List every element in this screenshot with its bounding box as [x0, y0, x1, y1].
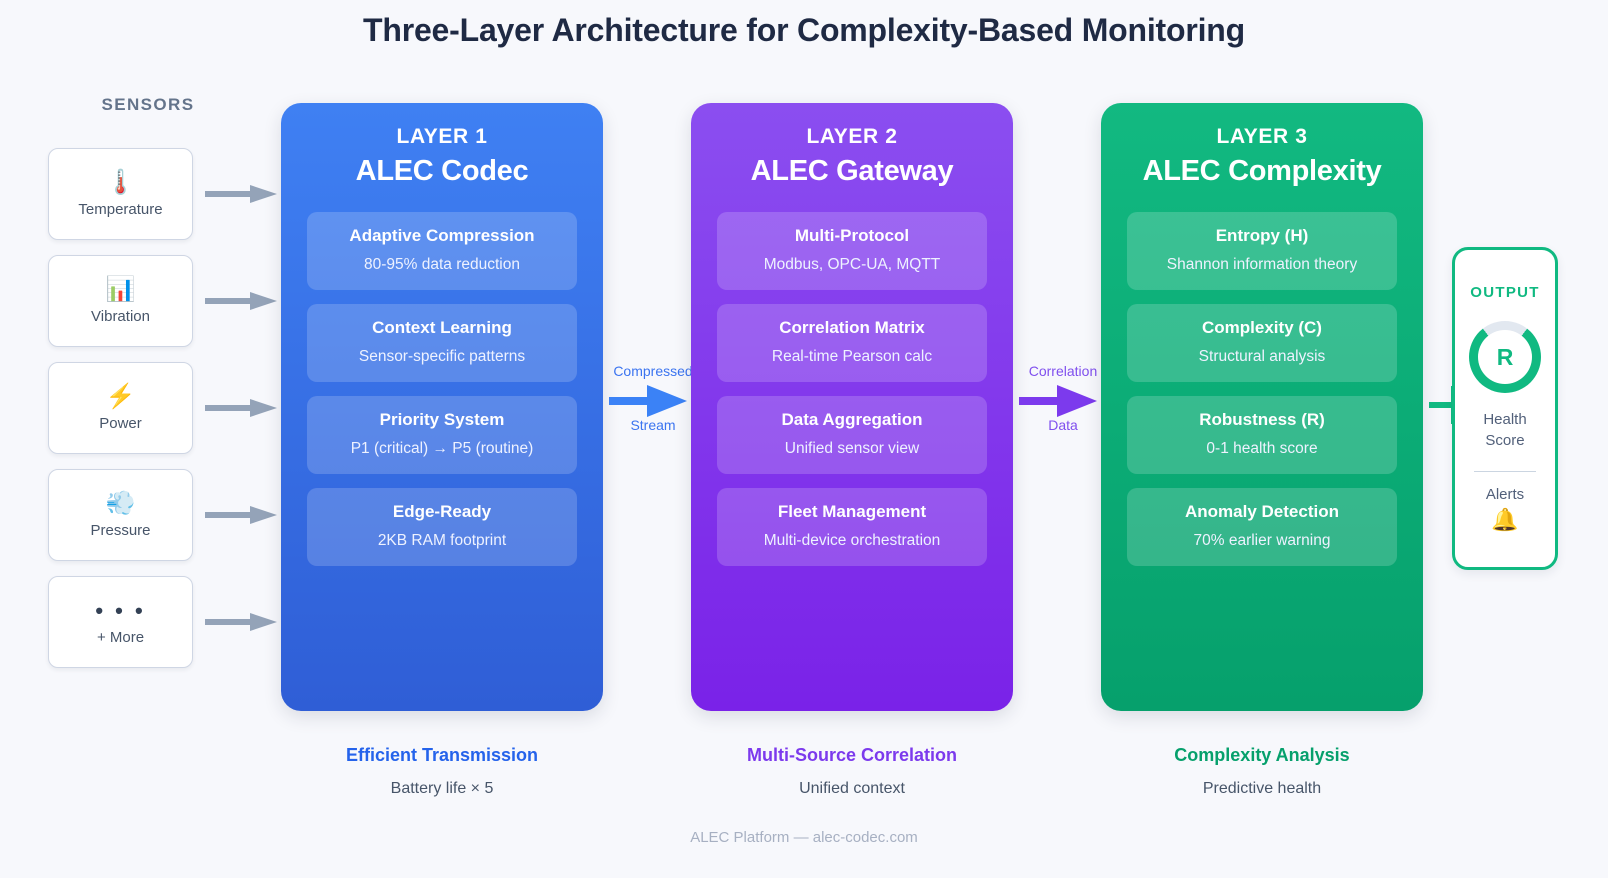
feature-name: Fleet Management [723, 502, 981, 522]
list-item-label: Pressure [90, 522, 150, 539]
feature-desc: 2KB RAM footprint [313, 532, 571, 550]
feature-name: Correlation Matrix [723, 318, 981, 338]
sensor-arrow-more [205, 613, 277, 631]
layer-kicker: LAYER 2 [717, 125, 987, 149]
feature-desc: 80-95% data reduction [313, 256, 571, 274]
arrow-shaft [205, 405, 253, 411]
connector-label-bottom: Stream [603, 417, 703, 433]
feature-card[interactable]: Anomaly Detection 70% earlier warning [1127, 488, 1397, 566]
feature-name: Adaptive Compression [313, 226, 571, 246]
sensors-heading: SENSORS [48, 95, 248, 115]
feature-name: Edge-Ready [313, 502, 571, 522]
arrow-head-icon [1057, 385, 1097, 417]
feature-card[interactable]: Correlation Matrix Real-time Pearson cal… [717, 304, 987, 382]
arrow-shaft [1019, 397, 1061, 405]
caption-title: Complexity Analysis [1101, 745, 1423, 766]
divider [1474, 471, 1536, 472]
caption-sub: Predictive health [1101, 780, 1423, 798]
alerts-label: Alerts [1455, 486, 1555, 503]
layer-caption-3: Complexity Analysis Predictive health [1101, 745, 1423, 798]
feature-name: Anomaly Detection [1133, 502, 1391, 522]
connector-label-bottom: Data [1013, 417, 1113, 433]
feature-desc: Unified sensor view [723, 440, 981, 458]
layer-title: ALEC Codec [307, 155, 577, 188]
feature-name: Entropy (H) [1133, 226, 1391, 246]
gas-cloud-icon: 💨 [106, 491, 136, 517]
output-heading: OUTPUT [1455, 284, 1555, 301]
feature-desc: Sensor-specific patterns [313, 348, 571, 366]
arrow-head-icon [250, 292, 277, 310]
feature-card[interactable]: Edge-Ready 2KB RAM footprint [307, 488, 577, 566]
arrow-head-icon [250, 185, 277, 203]
list-item-label: Vibration [91, 308, 150, 325]
feature-name: Complexity (C) [1133, 318, 1391, 338]
caption-title: Efficient Transmission [281, 745, 603, 766]
feature-desc: Modbus, OPC-UA, MQTT [723, 256, 981, 274]
list-item[interactable]: 🌡️ Temperature [48, 148, 193, 240]
layer-panel-2[interactable]: LAYER 2 ALEC Gateway Multi-Protocol Modb… [691, 103, 1013, 711]
caption-sub: Unified context [691, 780, 1013, 798]
arrow-shaft [205, 512, 253, 518]
layer-panel-3[interactable]: LAYER 3 ALEC Complexity Entropy (H) Shan… [1101, 103, 1423, 711]
ellipsis-icon: • • • [95, 598, 145, 624]
feature-name: Robustness (R) [1133, 410, 1391, 430]
health-score-gauge: R [1469, 321, 1541, 393]
connector-layer1-layer2: Compressed Stream [603, 363, 703, 453]
feature-name: Multi-Protocol [723, 226, 981, 246]
feature-list: Multi-Protocol Modbus, OPC-UA, MQTT Corr… [717, 212, 987, 566]
list-item[interactable]: ⚡ Power [48, 362, 193, 454]
layer-title: ALEC Gateway [717, 155, 987, 188]
arrow-head-icon [250, 613, 277, 631]
list-item-label: + More [97, 629, 144, 646]
gauge-value: R [1469, 321, 1541, 393]
caption-sub: Battery life × 5 [281, 780, 603, 798]
feature-card[interactable]: Complexity (C) Structural analysis [1127, 304, 1397, 382]
feature-card[interactable]: Multi-Protocol Modbus, OPC-UA, MQTT [717, 212, 987, 290]
arrow-shaft [609, 397, 651, 405]
page-title: Three-Layer Architecture for Complexity-… [0, 12, 1608, 49]
feature-desc: P1 (critical) → P5 (routine) [313, 440, 571, 458]
caption-title: Multi-Source Correlation [691, 745, 1013, 766]
list-item-label: Power [99, 415, 142, 432]
feature-card[interactable]: Robustness (R) 0-1 health score [1127, 396, 1397, 474]
feature-name: Context Learning [313, 318, 571, 338]
connector-layer2-layer3: Correlation Data [1013, 363, 1113, 453]
feature-list: Entropy (H) Shannon information theory C… [1127, 212, 1397, 566]
arrow-shaft [205, 619, 253, 625]
feature-name: Data Aggregation [723, 410, 981, 430]
list-item[interactable]: 💨 Pressure [48, 469, 193, 561]
layer-title: ALEC Complexity [1127, 155, 1397, 188]
list-item-label: Temperature [78, 201, 162, 218]
bar-chart-icon: 📊 [106, 277, 136, 303]
arrow-head-icon [647, 385, 687, 417]
feature-card[interactable]: Entropy (H) Shannon information theory [1127, 212, 1397, 290]
health-score-label-line2: Score [1455, 430, 1555, 451]
arrow-shaft [205, 191, 253, 197]
feature-card[interactable]: Context Learning Sensor-specific pattern… [307, 304, 577, 382]
feature-desc: 70% earlier warning [1133, 532, 1391, 550]
list-item[interactable]: 📊 Vibration [48, 255, 193, 347]
layer-kicker: LAYER 3 [1127, 125, 1397, 149]
health-score-label: Health Score [1455, 409, 1555, 451]
feature-list: Adaptive Compression 80-95% data reducti… [307, 212, 577, 566]
layer-kicker: LAYER 1 [307, 125, 577, 149]
feature-desc: 0-1 health score [1133, 440, 1391, 458]
feature-desc: Shannon information theory [1133, 256, 1391, 274]
sensor-arrow-power [205, 399, 277, 417]
sensor-arrow-vibration [205, 292, 277, 310]
layer-caption-2: Multi-Source Correlation Unified context [691, 745, 1013, 798]
health-score-label-line1: Health [1455, 409, 1555, 430]
page-footer: ALEC Platform — alec-codec.com [0, 829, 1608, 846]
layer-caption-1: Efficient Transmission Battery life × 5 [281, 745, 603, 798]
arrow-head-icon [250, 399, 277, 417]
arrow-head-icon [250, 506, 277, 524]
list-item[interactable]: • • • + More [48, 576, 193, 668]
lightning-bolt-icon: ⚡ [106, 384, 136, 410]
feature-card[interactable]: Priority System P1 (critical) → P5 (rout… [307, 396, 577, 474]
connector-label-top: Compressed [603, 363, 703, 379]
bell-icon: 🔔 [1455, 507, 1555, 533]
sensor-arrow-temperature [205, 185, 277, 203]
thermometer-icon: 🌡️ [106, 170, 136, 196]
layer-panel-1[interactable]: LAYER 1 ALEC Codec Adaptive Compression … [281, 103, 603, 711]
feature-card[interactable]: Adaptive Compression 80-95% data reducti… [307, 212, 577, 290]
output-panel[interactable]: OUTPUT R Health Score Alerts 🔔 [1452, 247, 1558, 570]
sensor-list: 🌡️ Temperature 📊 Vibration ⚡ Power 💨 Pre… [48, 148, 193, 683]
connector-label-top: Correlation [1013, 363, 1113, 379]
feature-desc: Real-time Pearson calc [723, 348, 981, 366]
arrow-shaft [205, 298, 253, 304]
feature-card[interactable]: Fleet Management Multi-device orchestrat… [717, 488, 987, 566]
feature-desc: Multi-device orchestration [723, 532, 981, 550]
feature-card[interactable]: Data Aggregation Unified sensor view [717, 396, 987, 474]
feature-name: Priority System [313, 410, 571, 430]
feature-desc: Structural analysis [1133, 348, 1391, 366]
sensor-arrow-pressure [205, 506, 277, 524]
